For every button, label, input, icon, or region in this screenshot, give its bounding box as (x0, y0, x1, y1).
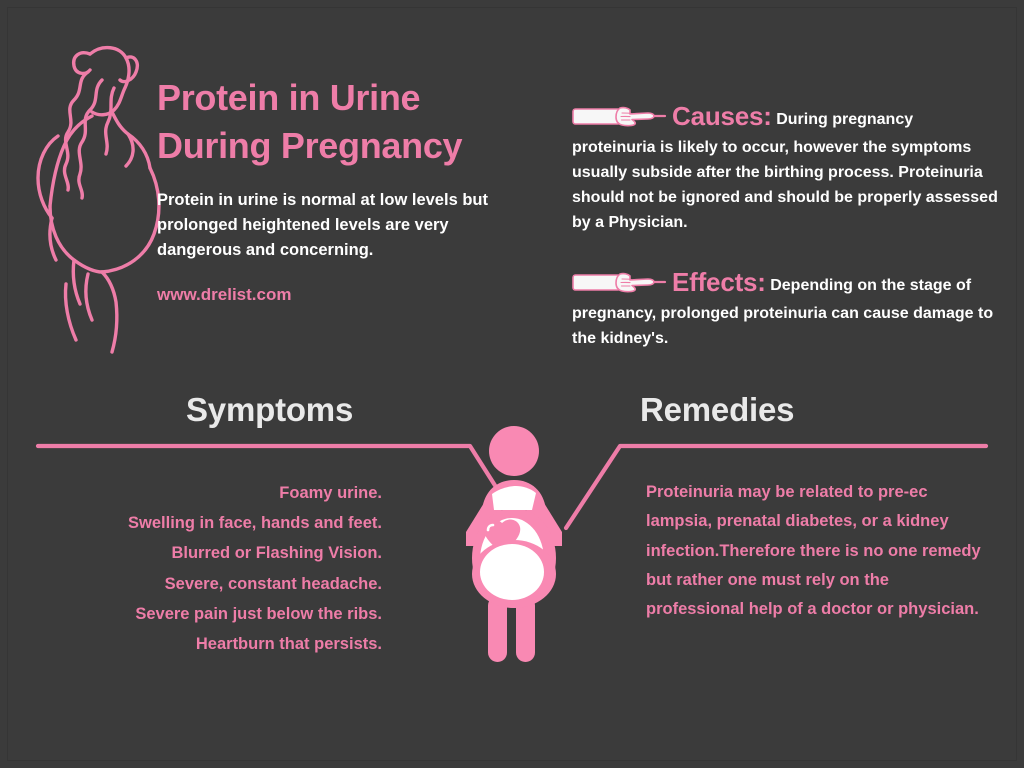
symptoms-heading: Symptoms (186, 391, 353, 429)
effects-paragraph: Effects: Depending on the stage of pregn… (572, 262, 1000, 352)
list-item: Swelling in face, hands and feet. (60, 508, 382, 538)
causes-paragraph: Causes: During pregnancy proteinuria is … (572, 96, 1000, 235)
effects-block: Effects: Depending on the stage of pregn… (572, 262, 1000, 352)
list-item: Severe pain just below the ribs. (60, 599, 382, 629)
list-item: Blurred or Flashing Vision. (60, 538, 382, 568)
title-line-1: Protein in Urine (157, 77, 420, 118)
effects-heading: Effects: (672, 267, 766, 297)
list-item: Severe, constant headache. (60, 569, 382, 599)
pointing-hand-icon (572, 104, 668, 128)
website-url[interactable]: www.drelist.com (157, 285, 537, 305)
infographic-canvas: Protein in Urine During Pregnancy Protei… (0, 0, 1024, 768)
figure-head (489, 426, 539, 476)
causes-body: During pregnancy proteinuria is likely t… (572, 111, 998, 231)
list-item: Heartburn that persists. (60, 629, 382, 659)
pointing-hand-icon (572, 270, 668, 294)
remedies-paragraph: Proteinuria may be related to pre-ec lam… (646, 478, 986, 625)
causes-block: Causes: During pregnancy proteinuria is … (572, 96, 1000, 235)
symptoms-list: Foamy urine. Swelling in face, hands and… (60, 478, 382, 659)
list-item: Foamy urine. (60, 478, 382, 508)
title-block: Protein in Urine During Pregnancy Protei… (157, 74, 537, 305)
causes-heading: Causes: (672, 101, 772, 131)
title-line-2: During Pregnancy (157, 125, 462, 166)
pregnant-woman-lineart-icon (28, 28, 168, 358)
intro-paragraph: Protein in urine is normal at low levels… (157, 188, 517, 263)
remedies-heading: Remedies (640, 391, 794, 429)
page-title: Protein in Urine During Pregnancy (157, 74, 537, 170)
pregnant-woman-figure-icon (462, 424, 572, 664)
